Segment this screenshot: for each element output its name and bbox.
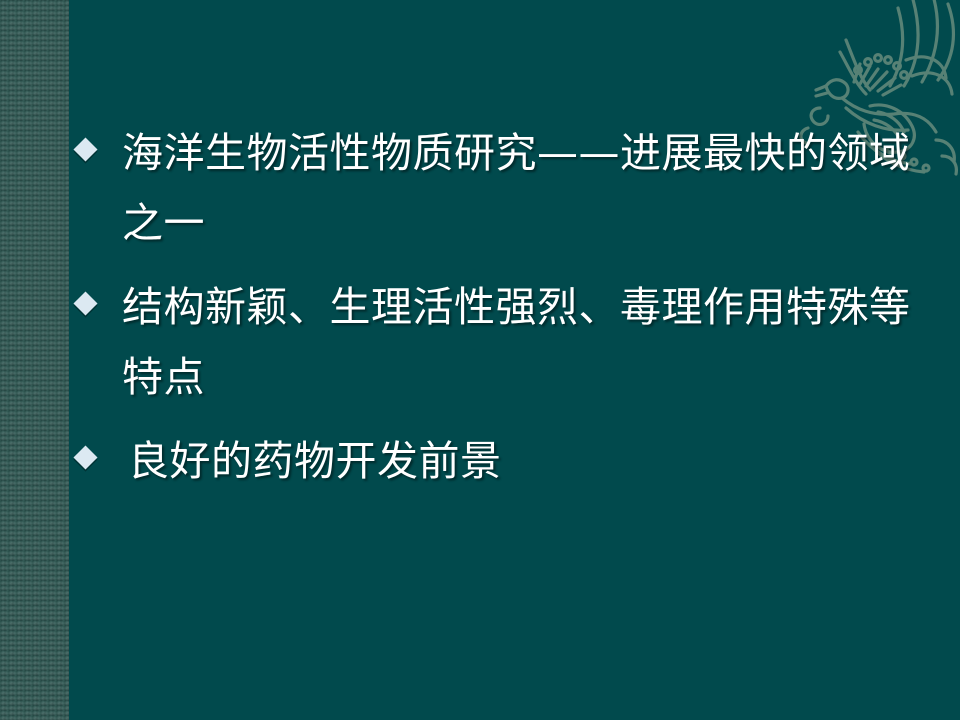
bullet-text: 良好的药物开发前景 xyxy=(122,426,948,496)
diamond-bullet-icon xyxy=(73,137,97,161)
left-decorative-band xyxy=(0,0,69,720)
bullet-text: 海洋生物活性物质研究——进展最快的领域之一 xyxy=(122,118,948,258)
bullet-text: 结构新颖、生理活性强烈、毒理作用特殊等特点 xyxy=(122,272,948,412)
list-item: 良好的药物开发前景 xyxy=(68,426,948,496)
presentation-slide: 海洋生物活性物质研究——进展最快的领域之一 结构新颖、生理活性强烈、毒理作用特殊… xyxy=(0,0,960,720)
diamond-bullet-icon xyxy=(73,291,97,315)
diamond-bullet-icon xyxy=(73,445,97,469)
list-item: 海洋生物活性物质研究——进展最快的领域之一 xyxy=(68,118,948,258)
bullet-list: 海洋生物活性物质研究——进展最快的领域之一 结构新颖、生理活性强烈、毒理作用特殊… xyxy=(68,118,948,496)
list-item: 结构新颖、生理活性强烈、毒理作用特殊等特点 xyxy=(68,272,948,412)
